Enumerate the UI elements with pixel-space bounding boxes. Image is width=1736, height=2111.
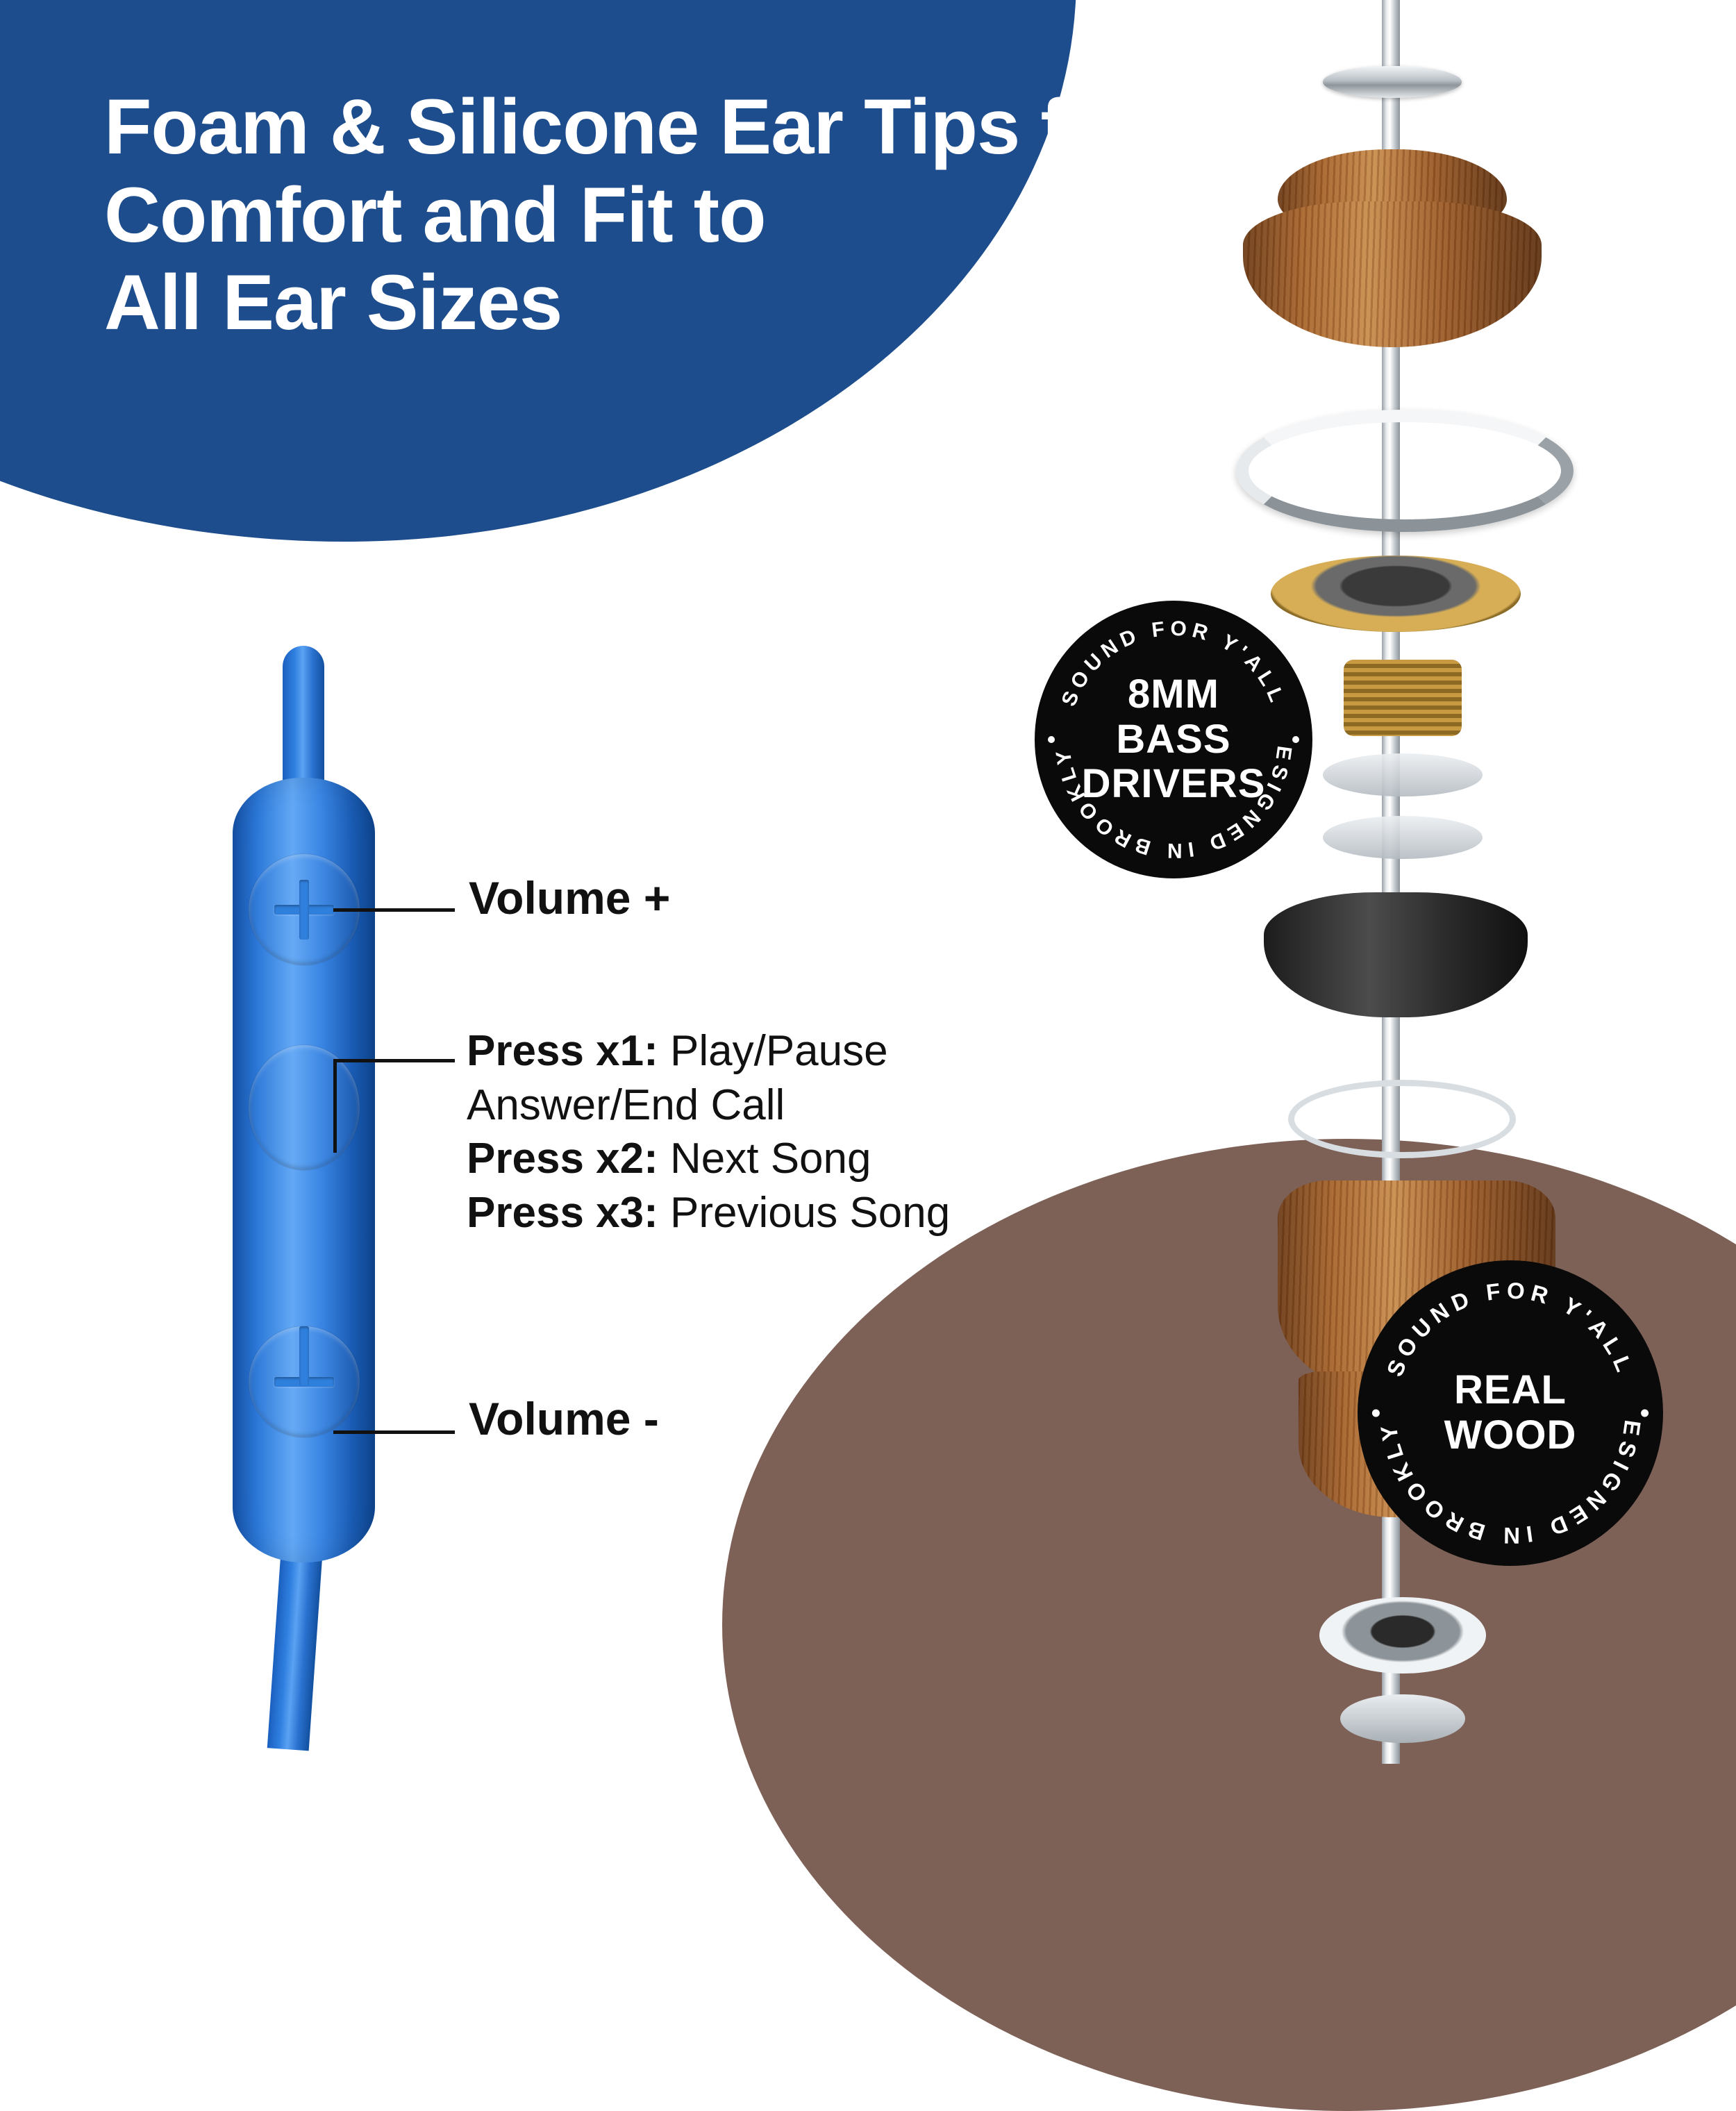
callout-line-volume-down bbox=[333, 1430, 455, 1434]
wood-body-dome bbox=[1243, 201, 1542, 347]
inline-control-module bbox=[233, 778, 375, 1562]
headline-line-2: Comfort and Fit to bbox=[104, 172, 1076, 260]
wire-ring bbox=[1288, 1080, 1516, 1158]
badge-ring-top-wood: SOUND FOR Y'ALL bbox=[1382, 1277, 1639, 1380]
badge-line3-8mm: DRIVERS bbox=[1082, 762, 1266, 807]
chrome-bottom-collar bbox=[1319, 1597, 1486, 1674]
press-x3-value: Previous Song bbox=[658, 1189, 950, 1237]
brass-coil bbox=[1344, 660, 1462, 736]
press-line-4: Press x3: Previous Song bbox=[467, 1186, 1161, 1240]
label-volume-up: Volume + bbox=[469, 871, 670, 924]
badge-line2-wood: WOOD bbox=[1444, 1413, 1577, 1458]
headline-line-1: Foam & Silicone Ear Tips for bbox=[104, 83, 1076, 172]
chrome-ring bbox=[1236, 410, 1574, 532]
multifunction-button[interactable] bbox=[249, 1045, 360, 1170]
badge-real-wood: SOUND FOR Y'ALL DESIGNED IN BROOKLYN REA… bbox=[1358, 1260, 1663, 1566]
press-line-2: Answer/End Call bbox=[467, 1078, 1161, 1133]
label-volume-down: Volume - bbox=[469, 1392, 659, 1445]
press-x1-label: Press x1: bbox=[467, 1027, 658, 1075]
press-x2-value: Next Song bbox=[658, 1135, 871, 1183]
label-press-instructions: Press x1: Play/Pause Answer/End Call Pre… bbox=[467, 1024, 1161, 1240]
badge-text-wood: REAL WOOD bbox=[1444, 1368, 1577, 1458]
press-x3-label: Press x3: bbox=[467, 1189, 658, 1237]
badge-line1-8mm: 8MM bbox=[1082, 672, 1266, 717]
callout-line-press-vertical bbox=[333, 1059, 337, 1153]
black-driver-cone bbox=[1264, 892, 1528, 1017]
page-title: Foam & Silicone Ear Tips for Comfort and… bbox=[104, 83, 1076, 347]
callout-line-press bbox=[333, 1059, 455, 1062]
volume-down-button[interactable] bbox=[249, 1326, 360, 1437]
badge-8mm-bass-drivers: SOUND FOR Y'ALL DESIGNED IN BROOKLYN 8MM… bbox=[1035, 601, 1312, 878]
badge-text-8mm: 8MM BASS DRIVERS bbox=[1082, 672, 1266, 808]
press-line-3: Press x2: Next Song bbox=[467, 1132, 1161, 1186]
callout-line-volume-up bbox=[333, 908, 455, 912]
press-line-1: Press x1: Play/Pause bbox=[467, 1024, 1161, 1078]
headline-line-3: All Ear Sizes bbox=[104, 259, 1076, 347]
badge-line2-8mm: BASS bbox=[1082, 717, 1266, 762]
press-x2-label: Press x2: bbox=[467, 1135, 658, 1183]
clear-disc-lower bbox=[1323, 816, 1483, 859]
top-spacer-ring bbox=[1323, 66, 1462, 98]
clear-disc-upper bbox=[1323, 753, 1483, 796]
badge-line1-wood: REAL bbox=[1444, 1368, 1577, 1413]
press-x1-value: Play/Pause bbox=[658, 1027, 888, 1075]
